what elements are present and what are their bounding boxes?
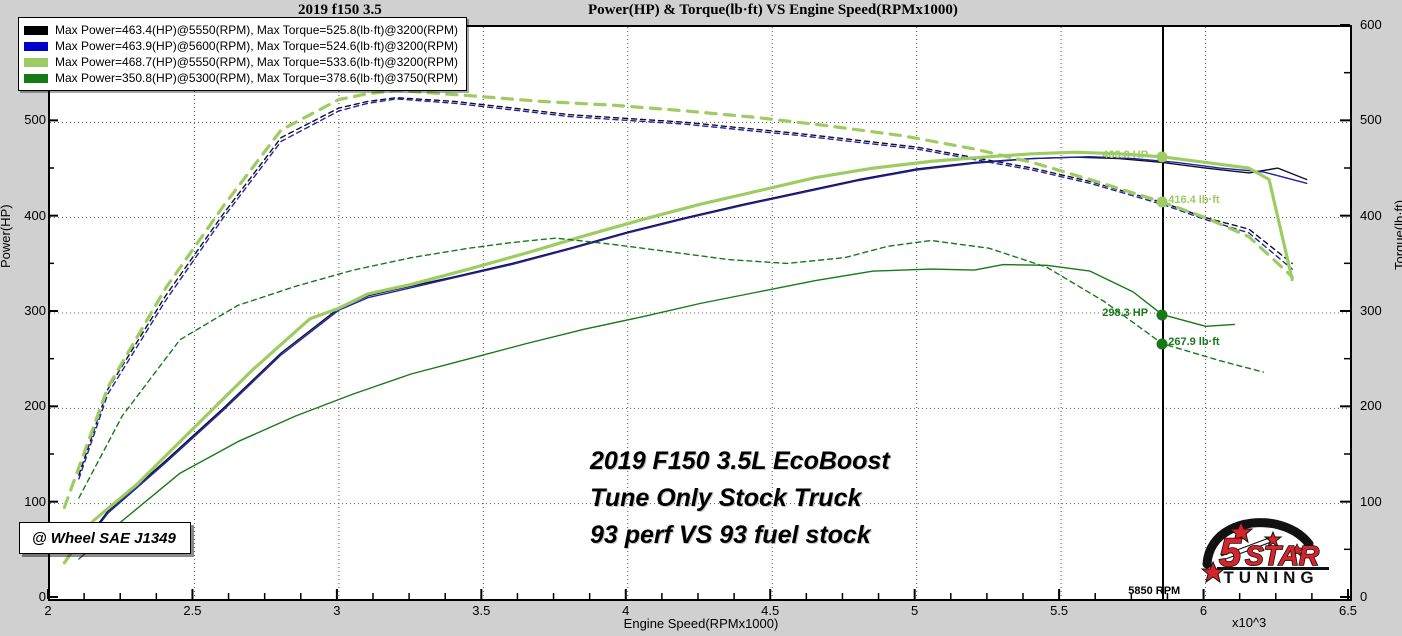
logo-subtext: TUNING xyxy=(1211,568,1331,588)
legend-item: Max Power=350.8(HP)@5300(RPM), Max Torqu… xyxy=(24,70,458,86)
chart-title: Power(HP) & Torque(lb·ft) VS Engine Spee… xyxy=(588,2,958,19)
y-tick-label-left: 300 xyxy=(0,303,46,318)
y-tick-label-left: 0 xyxy=(0,589,46,604)
data-point-label: 298.3 HP xyxy=(1102,307,1148,319)
chart-caption: 2019 F150 3.5L EcoBoost Tune Only Stock … xyxy=(590,443,890,554)
y-tick-label-right: 600 xyxy=(1360,17,1402,32)
y-tick-label-left: 200 xyxy=(0,398,46,413)
data-point-marker xyxy=(1157,309,1168,320)
caption-line-2: Tune Only Stock Truck xyxy=(590,480,890,517)
logo-word: STAR xyxy=(1245,540,1320,571)
five-star-tuning-logo: 5 STAR TUNING xyxy=(1197,512,1337,592)
legend-swatch-4 xyxy=(24,74,48,83)
y-tick-label-right: 500 xyxy=(1360,112,1402,127)
caption-line-1: 2019 F150 3.5L EcoBoost xyxy=(590,443,890,480)
legend-label-2: Max Power=463.9(HP)@5600(RPM), Max Torqu… xyxy=(55,39,458,53)
y-tick-label-right: 200 xyxy=(1360,398,1402,413)
caption-line-3: 93 perf VS 93 fuel stock xyxy=(590,517,890,554)
legend: Max Power=463.4(HP)@5550(RPM), Max Torqu… xyxy=(18,17,467,91)
legend-swatch-1 xyxy=(24,26,48,35)
y-tick-label-right: 100 xyxy=(1360,494,1402,509)
data-point-marker xyxy=(1157,338,1168,349)
data-point-marker xyxy=(1157,197,1168,208)
data-point-label: 416.4 lb·ft xyxy=(1168,194,1219,206)
sae-correction-box: @ Wheel SAE J1349 xyxy=(19,522,191,554)
rpm-cursor-label: 5850 RPM xyxy=(1128,585,1180,597)
y-tick-label-left: 100 xyxy=(0,494,46,509)
x-axis-label: Engine Speed(RPMx1000) xyxy=(0,616,1402,631)
legend-item: Max Power=463.4(HP)@5550(RPM), Max Torqu… xyxy=(24,22,458,38)
x-axis-exponent-label: x10^3 xyxy=(1232,615,1266,630)
y-tick-label-right: 300 xyxy=(1360,303,1402,318)
legend-label-3: Max Power=468.7(HP)@5550(RPM), Max Torqu… xyxy=(55,55,458,69)
legend-item: Max Power=468.7(HP)@5550(RPM), Max Torqu… xyxy=(24,54,458,70)
legend-swatch-3 xyxy=(24,58,48,67)
y-axis-label-left: Power(HP) xyxy=(0,148,13,268)
sae-correction-text: @ Wheel SAE J1349 xyxy=(32,530,176,547)
legend-label-1: Max Power=463.4(HP)@5550(RPM), Max Torqu… xyxy=(55,23,458,37)
y-tick-label-right: 0 xyxy=(1360,589,1402,604)
y-tick-label-left: 500 xyxy=(0,112,46,127)
legend-swatch-2 xyxy=(24,42,48,51)
data-point-marker xyxy=(1157,151,1168,162)
y-axis-label-right: Torque(lb·ft) xyxy=(1392,130,1402,270)
legend-item: Max Power=463.9(HP)@5600(RPM), Max Torqu… xyxy=(24,38,458,54)
data-point-label: 267.9 lb·ft xyxy=(1168,336,1219,348)
dyno-chart-page: 2019 f150 3.5 Power(HP) & Torque(lb·ft) … xyxy=(0,0,1402,636)
legend-label-4: Max Power=350.8(HP)@5300(RPM), Max Torqu… xyxy=(55,71,458,85)
data-point-label: 463.8 HP xyxy=(1102,149,1148,161)
